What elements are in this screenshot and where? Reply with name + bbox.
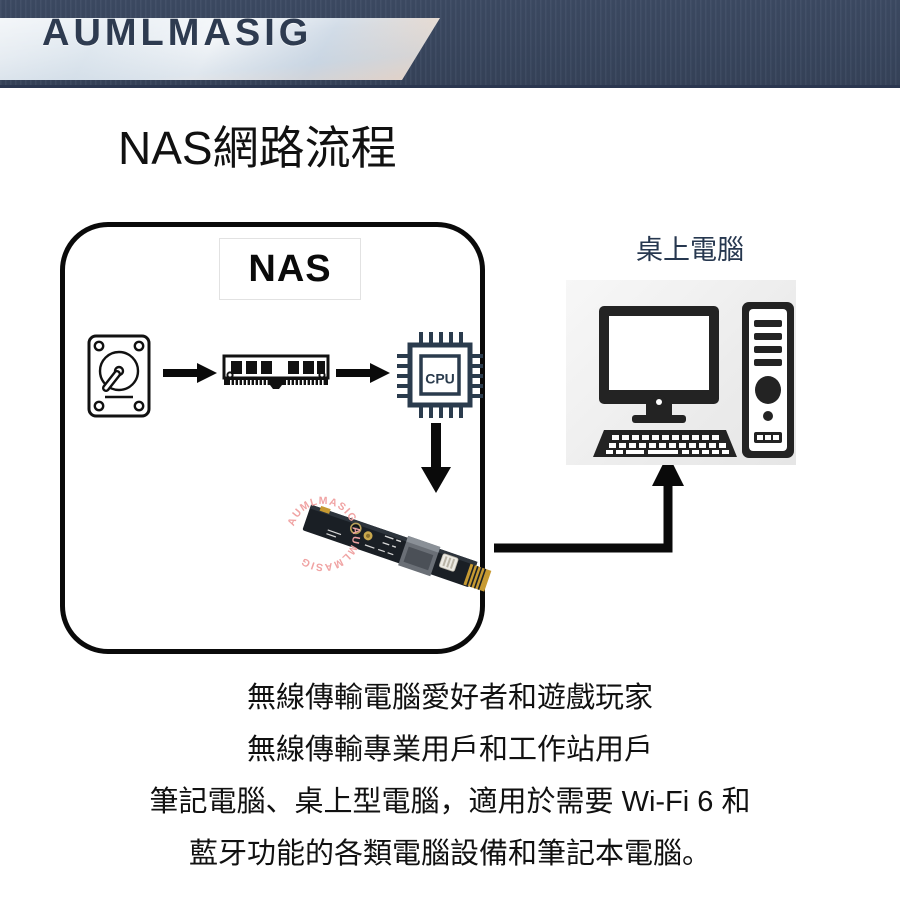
arrow-ram-to-cpu-icon bbox=[336, 362, 390, 384]
page-header: AUMLMASIG bbox=[0, 0, 900, 88]
desktop-computer-label: 桌上電腦 bbox=[560, 228, 820, 267]
ram-memory-module-icon bbox=[222, 352, 330, 392]
hard-disk-drive-icon bbox=[86, 333, 152, 419]
cpu-chip-icon: CPU bbox=[395, 330, 485, 420]
page-title: NAS網路流程 bbox=[118, 112, 397, 178]
desktop-computer-icon bbox=[566, 280, 796, 465]
cpu-chip-text: CPU bbox=[425, 371, 455, 387]
arrow-cpu-to-ssd-icon bbox=[420, 423, 452, 495]
caption-block: 無線傳輸電腦愛好者和遊戲玩家 無線傳輸專業用戶和工作站用戶 筆記電腦、桌上型電腦… bbox=[0, 672, 900, 880]
caption-line: 筆記電腦、桌上型電腦，適用於需要 Wi-Fi 6 和 bbox=[0, 776, 900, 828]
header-underline bbox=[0, 85, 900, 88]
nas-label-box: NAS bbox=[219, 238, 361, 300]
brand-logo-text: AUMLMASIG bbox=[42, 12, 312, 55]
caption-line: 藍牙功能的各類電腦設備和筆記本電腦。 bbox=[0, 828, 900, 880]
caption-line: 無線傳輸專業用戶和工作站用戶 bbox=[0, 724, 900, 776]
arrow-hdd-to-ram-icon bbox=[163, 362, 217, 384]
caption-line: 無線傳輸電腦愛好者和遊戲玩家 bbox=[0, 672, 900, 724]
nas-label-text: NAS bbox=[248, 248, 331, 291]
